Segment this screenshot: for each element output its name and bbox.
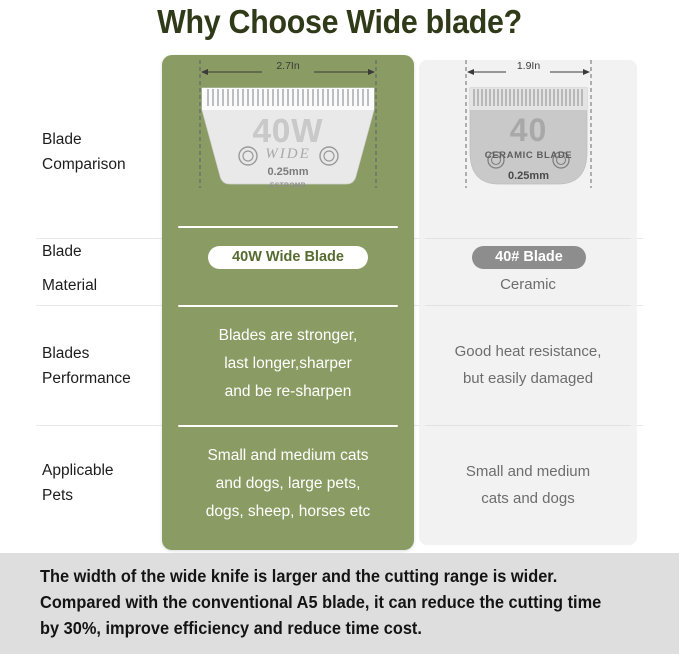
- row-label-line: Blade: [42, 239, 160, 264]
- page-title: Why Choose Wide blade?: [27, 0, 652, 48]
- wide-blade-brand-mark: ESTROMB: [196, 182, 380, 189]
- wide-blade-graphic: 2.7In 40W WIDE 0.25mm ESTROMB: [196, 58, 380, 243]
- cell-text-line: Small and medium: [425, 458, 631, 485]
- cell-text-line: and dogs, large pets,: [170, 470, 406, 498]
- standard-blade-model-text: 40: [462, 112, 595, 149]
- footer-band: The width of the wide knife is larger an…: [0, 553, 679, 654]
- row-label-line: Pets: [42, 483, 160, 508]
- row-label-blades-performance: Blades Performance: [42, 341, 160, 391]
- cell-text-line: Good heat resistance,: [425, 338, 631, 365]
- row-separator-grey: [425, 425, 631, 426]
- standard-blade-sub-label: CERAMIC BLADE: [462, 150, 595, 161]
- row-label-line: Blades: [42, 341, 160, 366]
- row-label-line: Material: [42, 273, 160, 298]
- cell-green-applicable-pets: Small and medium cats and dogs, large pe…: [170, 442, 406, 526]
- cell-text-line: Small and medium cats: [170, 442, 406, 470]
- row-separator-green: [178, 305, 398, 307]
- standard-blade-thickness: 0.25mm: [462, 170, 595, 182]
- cell-grey-blades-performance: Good heat resistance, but easily damaged: [425, 338, 631, 392]
- cell-text-line: but easily damaged: [425, 365, 631, 392]
- wide-blade-model-text: 40W: [196, 112, 380, 150]
- wide-blade-thickness: 0.25mm: [196, 166, 380, 178]
- cell-text-line: dogs, sheep, horses etc: [170, 498, 406, 526]
- row-label-line: Blade: [42, 127, 160, 152]
- pill-label-wide-blade: 40W Wide Blade: [208, 246, 368, 269]
- footer-text: The width of the wide knife is larger an…: [40, 563, 602, 641]
- cell-grey-applicable-pets: Small and medium cats and dogs: [425, 458, 631, 512]
- cell-text-line: cats and dogs: [425, 485, 631, 512]
- cell-text-line: last longer,sharper: [170, 350, 406, 378]
- cell-text-line: Blades are stronger,: [170, 322, 406, 350]
- row-label-line: Applicable: [42, 458, 160, 483]
- row-label-line: Comparison: [42, 152, 160, 177]
- cell-text-line: and be re-sharpen: [170, 378, 406, 406]
- row-separator-grey: [425, 305, 631, 306]
- cell-green-blades-performance: Blades are stronger, last longer,sharper…: [170, 322, 406, 406]
- wide-blade-dimension-label: 2.7In: [196, 60, 380, 72]
- cell-text-line: Ceramic: [425, 271, 631, 298]
- wide-blade-sub-label: WIDE: [196, 146, 380, 163]
- row-label-line: Performance: [42, 366, 160, 391]
- comparison-table: Blade Comparison: [0, 50, 679, 550]
- row-label-applicable-pets: Applicable Pets: [42, 458, 160, 508]
- row-label-blade-material: Blade Material: [42, 239, 160, 298]
- pill-label-standard-blade: 40# Blade: [472, 246, 586, 269]
- standard-blade-dimension-label: 1.9In: [462, 60, 595, 72]
- row-label-blade-comparison: Blade Comparison: [42, 127, 160, 177]
- standard-blade-graphic: 1.9In 40 CERAMIC BLADE 0.25mm: [462, 58, 595, 243]
- row-separator-green: [178, 425, 398, 427]
